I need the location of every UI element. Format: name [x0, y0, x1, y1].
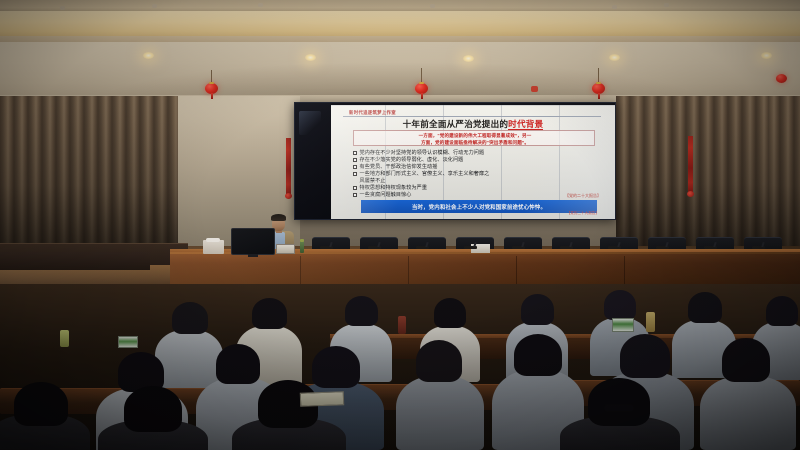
- attendee-head-foreground: [14, 382, 68, 426]
- red-wall-hanging-right: [688, 136, 693, 194]
- slide-bullet-item: 党内存在不少对坚持党的领导认识模糊、行动无力问题: [353, 150, 601, 156]
- monitor-stand: [248, 254, 258, 257]
- stage-riser-face: [0, 252, 150, 270]
- attendee-head: [416, 340, 462, 382]
- slide-bullet-list: 党内存在不少对坚持党的领导认识模糊、行动无力问题 存在不少落实党的领导弱化、虚化…: [353, 150, 601, 199]
- attendee-head: [514, 334, 562, 376]
- desk-monitor: [231, 228, 275, 255]
- green-name-card: [118, 336, 138, 348]
- downlight-icon: [305, 54, 316, 61]
- presentation-slide: 新时代追逐筑梦上作室 十年前全面从严治党提出的时代背景 一方面，“党的建设新的伟…: [331, 105, 615, 219]
- tissue-sheet: [206, 238, 220, 242]
- red-lantern-icon: [776, 74, 787, 83]
- desk-microphone: [608, 246, 621, 249]
- desk-microphone: [464, 246, 477, 249]
- downlight-icon: [761, 52, 772, 59]
- ceiling-fixture-icon: [258, 3, 263, 7]
- thermos-cup: [398, 316, 406, 334]
- attendee-head: [172, 302, 208, 334]
- attendee-head-foreground: [124, 386, 182, 432]
- red-lantern-icon: [415, 83, 428, 94]
- screen-dark-margin: [295, 103, 331, 219]
- attendee-torso: [155, 330, 223, 390]
- bullet-text: 存在不少落实党的领导弱化、虚化、淡化问题: [360, 157, 464, 163]
- slide-citation: 【党的二十大报告】: [565, 193, 601, 199]
- conference-hall-photo: 新时代追逐筑梦上作室 十年前全面从严治党提出的时代背景 一方面，“党的建设新的伟…: [0, 0, 800, 450]
- attendee-head: [312, 346, 360, 388]
- downlight-icon: [609, 54, 620, 61]
- ceiling-fixture-icon: [152, 4, 157, 8]
- curtain-right-shading: [766, 96, 800, 258]
- attendee-head: [216, 344, 260, 384]
- red-lantern-icon: [205, 83, 218, 94]
- green-name-card: [612, 318, 634, 332]
- desk-microphone: [416, 246, 429, 249]
- slide-bullet-item: 一些贪腐问题触目惊心: [353, 192, 601, 198]
- slide-bullet-item: 有些党员、干部政治信仰发生动摇: [353, 164, 601, 170]
- eyeglasses-icon: [604, 404, 634, 412]
- checkbox-icon: [353, 193, 357, 197]
- tissue-box: [203, 240, 224, 254]
- desk-microphone: [320, 246, 333, 249]
- bullet-text: 有些党员、干部政治信仰发生动摇: [360, 164, 438, 170]
- lantern-tassel: [421, 93, 423, 99]
- bullet-indent-spacer: [353, 179, 357, 183]
- attendee-head: [521, 294, 554, 325]
- slide-title: 十年前全面从严治党提出的时代背景: [331, 118, 615, 130]
- bullet-text: 党内存在不少对坚持党的领导认识模糊、行动无力问题: [360, 150, 485, 156]
- ceiling-fixture-icon: [430, 4, 435, 8]
- slide-bullet-item: 一些地方和部门形式主义、官僚主义、享乐主义和奢靡之: [353, 171, 601, 177]
- water-bottle: [300, 241, 304, 253]
- slide-header-rule: [343, 116, 601, 117]
- attendee-head: [434, 298, 466, 328]
- bottle-cap: [300, 239, 304, 242]
- red-wall-hanging-knot: [687, 191, 694, 197]
- desk-microphone: [512, 246, 525, 249]
- downlight-icon: [463, 55, 474, 62]
- attendee-head: [620, 334, 670, 378]
- desk-microphone: [368, 246, 381, 249]
- red-wall-hanging-left: [286, 138, 291, 196]
- desk-microphone: [656, 246, 669, 249]
- bullet-text: 特权思想和特权现象较为严重: [360, 185, 428, 191]
- thermos-cup: [60, 330, 69, 347]
- slide-title-main: 十年前全面从严治党提出的: [403, 119, 509, 129]
- smoke-detector-icon: [531, 86, 538, 92]
- attendee-head: [688, 292, 722, 323]
- curtain-left-shading: [0, 96, 178, 258]
- screen-reflection: [299, 111, 321, 135]
- slide-bullet-item: 特权思想和特权现象较为严重: [353, 185, 601, 191]
- slide-highlight-bar: 当时，党内和社会上不少人对党和国家前途忧心忡忡。: [361, 200, 597, 213]
- lantern-tassel: [598, 93, 600, 99]
- ceiling-fixture-icon: [60, 6, 65, 10]
- attendee-head-foreground: [588, 378, 650, 426]
- checkbox-icon: [353, 165, 357, 169]
- slide-panel-seam: [331, 105, 615, 106]
- thermos-cup: [646, 312, 655, 332]
- projection-screen: 新时代追逐筑梦上作室 十年前全面从严治党提出的时代背景 一方面，“党的建设新的伟…: [294, 102, 616, 220]
- checkbox-icon: [353, 151, 357, 155]
- slide-bullet-continuation: 风屡禁不止: [353, 178, 601, 184]
- attendee-head: [252, 298, 287, 329]
- speaker-hair: [271, 214, 286, 221]
- ceiling-fixture-icon: [664, 3, 669, 7]
- desk-microphone: [560, 246, 573, 249]
- lantern-cap: [209, 82, 214, 84]
- name-plate: [276, 244, 295, 254]
- checkbox-icon: [353, 158, 357, 162]
- checkbox-icon: [353, 172, 357, 176]
- lantern-cap: [419, 82, 424, 84]
- slide-citation-secondary: 【党的二十大报告】: [567, 211, 599, 216]
- ceiling-shadow: [0, 42, 800, 100]
- slide-subtitle-box: 一方面，“党的建设新的伟大工程取得显著成效”，另一 方面，党的建设面临亟待解决的…: [353, 130, 595, 146]
- bullet-text: 风屡禁不止: [360, 178, 386, 184]
- notebook: [300, 391, 344, 407]
- bullet-text: 一些贪腐问题触目惊心: [360, 192, 412, 198]
- slide-subtitle-line-1: 一方面，“党的建设新的伟大工程取得显著成效”，另一: [354, 132, 596, 139]
- slide-subtitle-line-2: 方面，党的建设面临亟待解决的“突出矛盾和问题”。: [354, 139, 596, 146]
- slide-bullet-item: 存在不少落实党的领导弱化、虚化、淡化问题: [353, 157, 601, 163]
- desk-microphone: [752, 246, 765, 249]
- red-wall-hanging-knot: [285, 193, 292, 199]
- downlight-icon: [143, 52, 154, 59]
- attendee-head: [766, 296, 798, 326]
- attendee-head: [722, 338, 770, 382]
- checkbox-icon: [353, 186, 357, 190]
- attendee-head: [345, 296, 378, 326]
- bullet-text: 一些地方和部门形式主义、官僚主义、享乐主义和奢靡之: [360, 171, 490, 177]
- lantern-cap: [596, 82, 601, 84]
- lantern-tassel: [211, 93, 213, 99]
- desk-microphone: [704, 246, 717, 249]
- attendee-torso: [700, 376, 796, 450]
- slide-highlight-text: 当时，党内和社会上不少人对党和国家前途忧心忡忡。: [412, 203, 546, 211]
- attendee-torso: [396, 376, 484, 450]
- ceiling-fixture-icon: [612, 5, 617, 9]
- cove-light-strip: [0, 11, 800, 38]
- red-lantern-icon: [592, 83, 605, 94]
- slide-title-highlight: 时代背景: [508, 119, 543, 130]
- attendee-head: [604, 290, 636, 320]
